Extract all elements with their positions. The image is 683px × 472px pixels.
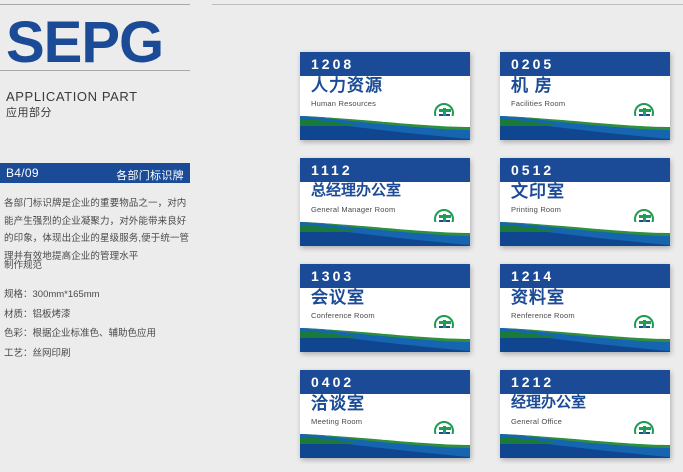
sign-room-number: 1212 (511, 374, 554, 390)
sign-room-number: 1303 (311, 268, 354, 284)
sign-plate-0512[interactable]: 0512 文印室 Printing Room 陕西环保集团 SEPG (500, 158, 670, 246)
spec-heading: 制作规范 (4, 256, 194, 275)
sign-body: 文印室 Printing Room 陕西环保集团 SEPG (500, 182, 670, 222)
spec-item-color: 色彩：根据企业标准色、辅助色应用 (4, 324, 194, 343)
sign-name-cn: 洽谈室 (311, 395, 365, 412)
sign-body: 机 房 Facilities Room 陕西环保集团 SEPG (500, 76, 670, 116)
sign-name-en: Conference Room (311, 311, 375, 320)
sign-body: 人力资源 Human Resources 陕西环保集团 SEPG (300, 76, 470, 116)
wave-graphic (300, 116, 470, 140)
left-info-panel: SEPG APPLICATION PART 应用部分 B4/09 各部门标识牌 … (0, 0, 212, 472)
sign-room-number: 1112 (311, 162, 353, 178)
sign-wave-footer (300, 116, 470, 140)
sign-body: 经理办公室 General Office 陕西环保集团 SEPG (500, 394, 670, 434)
sign-wave-footer (500, 328, 670, 352)
application-part-label-en: APPLICATION PART (6, 89, 138, 104)
sign-gallery: 1208 人力资源 Human Resources 陕西环保集团 SEPG (300, 52, 683, 458)
sign-plate-0402[interactable]: 0402 洽谈室 Meeting Room 陕西环保集团 SEPG (300, 370, 470, 458)
sign-room-number: 0205 (511, 56, 554, 72)
top-divider-right (212, 4, 683, 5)
sign-body: 总经理办公室 General Manager Room 陕西环保集团 SEPG (300, 182, 470, 222)
sign-wave-footer (500, 116, 670, 140)
sign-wave-footer (500, 222, 670, 246)
sign-name-en: Printing Room (511, 205, 561, 214)
sign-body: 会议室 Conference Room 陕西环保集团 SEPG (300, 288, 470, 328)
application-part-label-cn: 应用部分 (6, 104, 52, 120)
wave-graphic (300, 222, 470, 246)
wave-graphic (500, 328, 670, 352)
sign-name-cn: 人力资源 (311, 77, 383, 94)
sign-plate-1212[interactable]: 1212 经理办公室 General Office 陕西环保集团 SEPG (500, 370, 670, 458)
sign-wave-footer (300, 328, 470, 352)
sign-name-en: Human Resources (311, 99, 376, 108)
wave-graphic (500, 116, 670, 140)
sign-header-band: 1303 (300, 264, 470, 288)
sign-plate-1112[interactable]: 1112 总经理办公室 General Manager Room 陕西环保集团 … (300, 158, 470, 246)
sign-header-band: 0205 (500, 52, 670, 76)
sign-room-number: 1214 (511, 268, 554, 284)
sign-room-number: 0512 (511, 162, 554, 178)
sign-room-number: 0402 (311, 374, 354, 390)
sign-name-en: General Manager Room (311, 205, 395, 214)
sign-name-en: Meeting Room (311, 417, 362, 426)
wave-graphic (500, 222, 670, 246)
section-code-bar: B4/09 各部门标识牌 (0, 163, 190, 183)
specification-block: 制作规范 规格：300mm*165mm 材质：铝板烤漆 色彩：根据企业标准色、辅… (4, 256, 194, 363)
sign-body: 洽谈室 Meeting Room 陕西环保集团 SEPG (300, 394, 470, 434)
sign-wave-footer (300, 222, 470, 246)
sign-wave-footer (300, 434, 470, 458)
wave-graphic (500, 434, 670, 458)
sign-name-en: Renference Room (511, 311, 575, 320)
sign-plate-1208[interactable]: 1208 人力资源 Human Resources 陕西环保集团 SEPG (300, 52, 470, 140)
sign-header-band: 1208 (300, 52, 470, 76)
sign-header-band: 1212 (500, 370, 670, 394)
spec-item-process: 工艺：丝网印刷 (4, 344, 194, 363)
wave-graphic (300, 434, 470, 458)
sign-name-cn: 文印室 (511, 183, 565, 200)
sign-name-cn: 经理办公室 (511, 395, 586, 410)
brand-logo-sepg: SEPG (6, 14, 186, 72)
brand-underline (0, 70, 190, 71)
sign-plate-1214[interactable]: 1214 资料室 Renference Room 陕西环保集团 SEPG (500, 264, 670, 352)
spec-item-size: 规格：300mm*165mm (4, 285, 194, 304)
sign-body: 资料室 Renference Room 陕西环保集团 SEPG (500, 288, 670, 328)
sign-name-cn: 资料室 (511, 289, 565, 306)
sign-name-en: Facilities Room (511, 99, 565, 108)
sign-header-band: 0512 (500, 158, 670, 182)
section-title-cn: 各部门标识牌 (116, 167, 184, 183)
sign-plate-0205[interactable]: 0205 机 房 Facilities Room 陕西环保集团 SEPG (500, 52, 670, 140)
sign-room-number: 1208 (311, 56, 354, 72)
sign-wave-footer (500, 434, 670, 458)
spec-item-material: 材质：铝板烤漆 (4, 305, 194, 324)
sign-grid: 1208 人力资源 Human Resources 陕西环保集团 SEPG (300, 52, 683, 458)
wave-graphic (300, 328, 470, 352)
sign-header-band: 0402 (300, 370, 470, 394)
sign-name-cn: 机 房 (511, 77, 553, 94)
section-description: 各部门标识牌是企业的重要物品之一，对内能产生强烈的企业凝聚力，对外能带来良好的印… (4, 195, 194, 265)
sign-header-band: 1112 (300, 158, 470, 182)
sign-name-cn: 会议室 (311, 289, 365, 306)
sign-plate-1303[interactable]: 1303 会议室 Conference Room 陕西环保集团 SEPG (300, 264, 470, 352)
section-code: B4/09 (6, 166, 39, 180)
sign-name-en: General Office (511, 417, 562, 426)
sign-header-band: 1214 (500, 264, 670, 288)
sign-name-cn: 总经理办公室 (311, 183, 401, 198)
